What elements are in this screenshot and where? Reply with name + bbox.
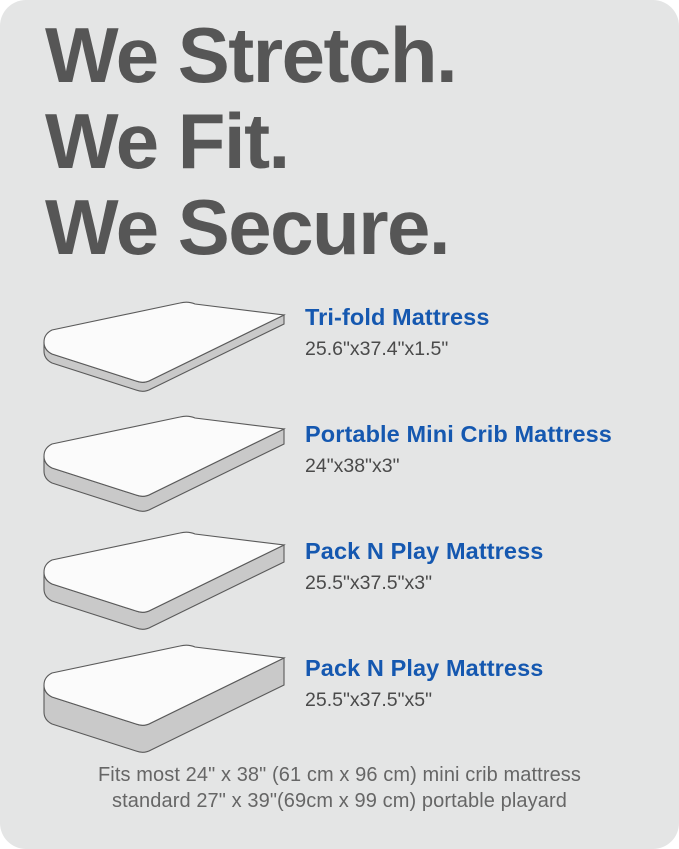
product-infographic: We Stretch. We Fit. We Secure. Tri-fold … <box>0 0 679 849</box>
product-title: Tri-fold Mattress <box>305 303 675 331</box>
mattress-illustration-icon <box>40 640 292 752</box>
product-row: Pack N Play Mattress 25.5"x37.5"x3" <box>0 523 679 640</box>
headline-line-2: We Fit. <box>45 98 645 184</box>
product-dimensions: 25.6"x37.4"x1.5" <box>305 337 675 361</box>
headline-line-3: We Secure. <box>45 184 645 270</box>
product-text: Portable Mini Crib Mattress 24"x38"x3" <box>305 420 675 478</box>
product-row: Portable Mini Crib Mattress 24"x38"x3" <box>0 406 679 523</box>
product-title: Pack N Play Mattress <box>305 537 675 565</box>
mattress-illustration-icon <box>40 289 292 401</box>
product-row: Pack N Play Mattress 25.5"x37.5"x5" <box>0 640 679 757</box>
product-text: Pack N Play Mattress 25.5"x37.5"x5" <box>305 654 675 712</box>
mattress-illustration-icon <box>40 523 292 635</box>
footer-line-1: Fits most 24" x 38" (61 cm x 96 cm) mini… <box>0 762 679 788</box>
product-dimensions: 24"x38"x3" <box>305 454 675 478</box>
headline-line-1: We Stretch. <box>45 12 645 98</box>
product-list: Tri-fold Mattress 25.6"x37.4"x1.5" Porta… <box>0 289 679 757</box>
product-text: Pack N Play Mattress 25.5"x37.5"x3" <box>305 537 675 595</box>
headline-block: We Stretch. We Fit. We Secure. <box>45 12 645 270</box>
product-title: Pack N Play Mattress <box>305 654 675 682</box>
footer-line-2: standard 27" x 39"(69cm x 99 cm) portabl… <box>0 788 679 814</box>
footer-note: Fits most 24" x 38" (61 cm x 96 cm) mini… <box>0 762 679 814</box>
product-text: Tri-fold Mattress 25.6"x37.4"x1.5" <box>305 303 675 361</box>
mattress-illustration-icon <box>40 406 292 518</box>
product-dimensions: 25.5"x37.5"x3" <box>305 571 675 595</box>
product-row: Tri-fold Mattress 25.6"x37.4"x1.5" <box>0 289 679 406</box>
product-title: Portable Mini Crib Mattress <box>305 420 675 448</box>
product-dimensions: 25.5"x37.5"x5" <box>305 688 675 712</box>
